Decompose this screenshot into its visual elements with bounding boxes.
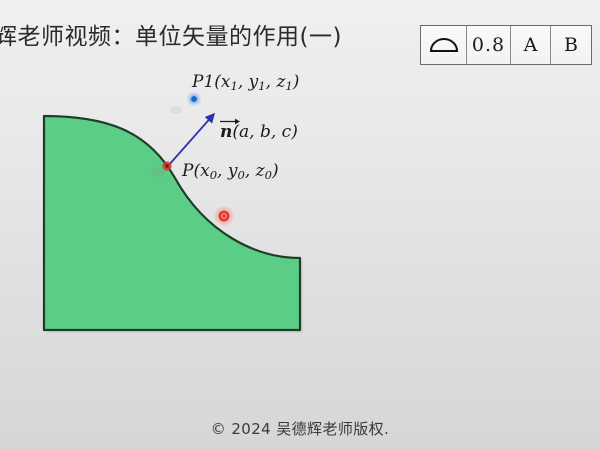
tangent-point-core [165,164,169,168]
label-p0-y-sub: 0 [237,168,244,182]
label-p1-x: x [221,72,231,92]
copyright-footer: © 2024 吴德辉老师版权. [0,418,600,439]
label-p0-base: P [182,161,193,181]
label-p0-close: ) [272,161,279,181]
label-p0: P(x0, y0, z0) [182,163,279,182]
label-p0-x: x [200,161,210,181]
label-n-a: a [239,122,249,142]
label-p0-x-sub: 0 [210,168,217,182]
highlight-point-core [223,215,225,217]
label-n-b: b [260,122,271,142]
p1-point-marker [191,96,197,102]
label-n-symbol: n [220,122,232,141]
label-normal-vector: n(a, b, c) [220,122,298,141]
label-p1-base: P1 [192,72,214,92]
label-p1-close: ) [293,72,300,92]
normal-vector-arrow [168,114,214,166]
label-p0-z-sub: 0 [265,168,272,182]
geometry-diagram [0,0,600,450]
label-p1-open: ( [214,72,221,92]
label-p1-y: y [249,72,259,92]
label-p0-z: z [256,161,265,181]
capture-artifact-lower [151,167,165,177]
label-p1-x-sub: 1 [231,79,238,93]
capture-artifact-upper [170,106,182,114]
slide-canvas: 辉老师视频：单位矢量的作用(一) 0.8 A B [0,0,600,450]
label-n-base: n [220,122,232,142]
label-n-c: c [282,122,292,142]
curved-solid-surface [44,116,300,330]
label-p1-y-sub: 1 [258,79,265,93]
label-p1-z-sub: 1 [285,79,292,93]
label-p1: P1(x1, y1, z1) [192,74,299,93]
label-n-close: ) [291,122,298,142]
